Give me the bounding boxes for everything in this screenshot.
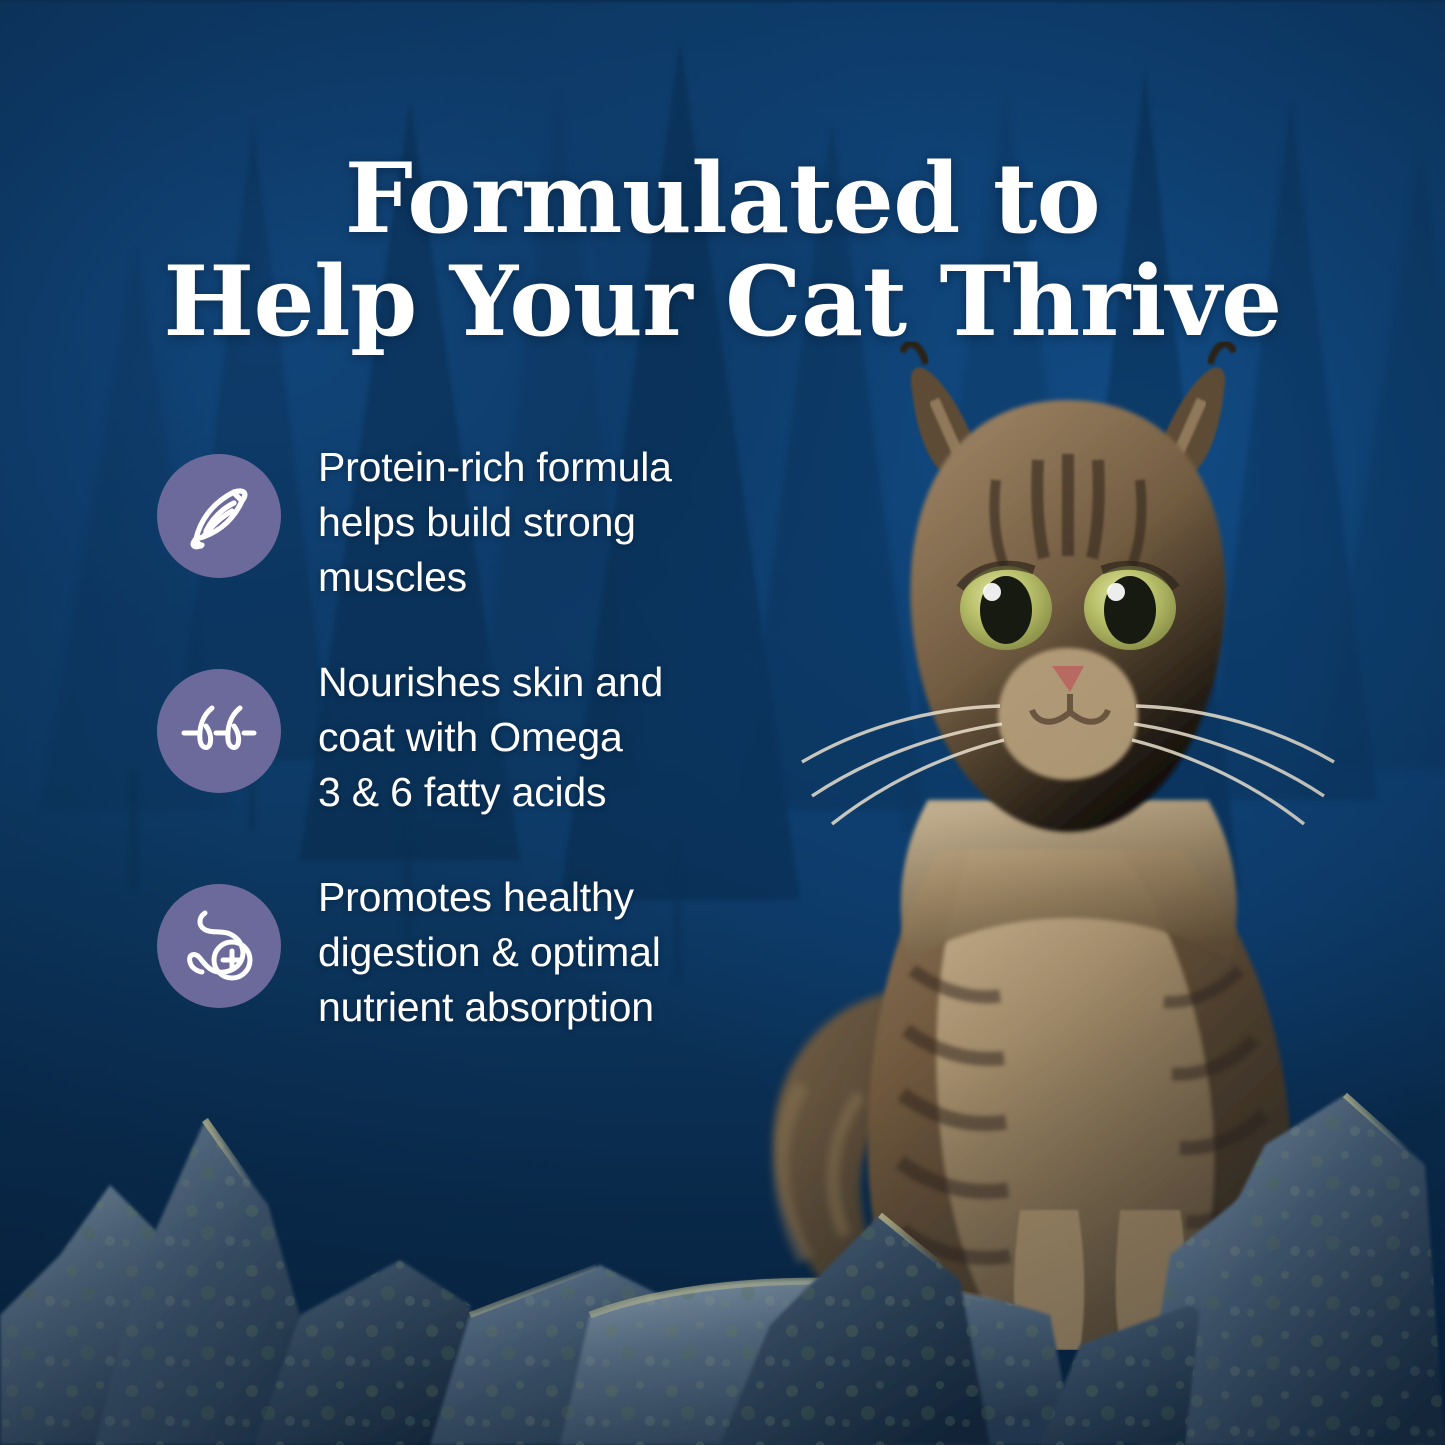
feature-item: Protein-rich formula helps build strong …	[157, 440, 777, 655]
feature-item: Nourishes skin and coat with Omega 3 & 6…	[157, 655, 777, 870]
top-edge-line	[0, 0, 1445, 4]
feature-text: Nourishes skin and coat with Omega 3 & 6…	[318, 655, 758, 820]
feature-list: Protein-rich formula helps build strong …	[157, 440, 777, 1085]
page-title-line-1: Formulated to	[0, 148, 1445, 251]
feature-text-line: Promotes healthy	[318, 874, 634, 920]
feature-text-line: muscles	[318, 554, 467, 600]
stomach-plus-icon	[178, 905, 260, 987]
hair-follicle-icon	[178, 690, 260, 772]
feature-icon-badge	[157, 454, 281, 578]
muscle-fiber-icon	[178, 475, 260, 557]
feature-text-line: Nourishes skin and	[318, 659, 663, 705]
page-title: Formulated to Help Your Cat Thrive	[0, 148, 1445, 353]
feature-icon-badge	[157, 669, 281, 793]
feature-text-line: 3 & 6 fatty acids	[318, 769, 606, 815]
feature-text: Protein-rich formula helps build strong …	[318, 440, 758, 605]
feature-text-line: digestion & optimal	[318, 929, 661, 975]
feature-text-line: Protein-rich formula	[318, 444, 672, 490]
feature-item: Promotes healthy digestion & optimal nut…	[157, 870, 777, 1085]
page-title-line-2: Help Your Cat Thrive	[0, 251, 1445, 354]
feature-icon-badge	[157, 884, 281, 1008]
feature-text-line: helps build strong	[318, 499, 636, 545]
feature-text-line: nutrient absorption	[318, 984, 654, 1030]
product-feature-poster: Formulated to Help Your Cat Thrive	[0, 0, 1445, 1445]
feature-text-line: coat with Omega	[318, 714, 623, 760]
feature-text: Promotes healthy digestion & optimal nut…	[318, 870, 758, 1035]
